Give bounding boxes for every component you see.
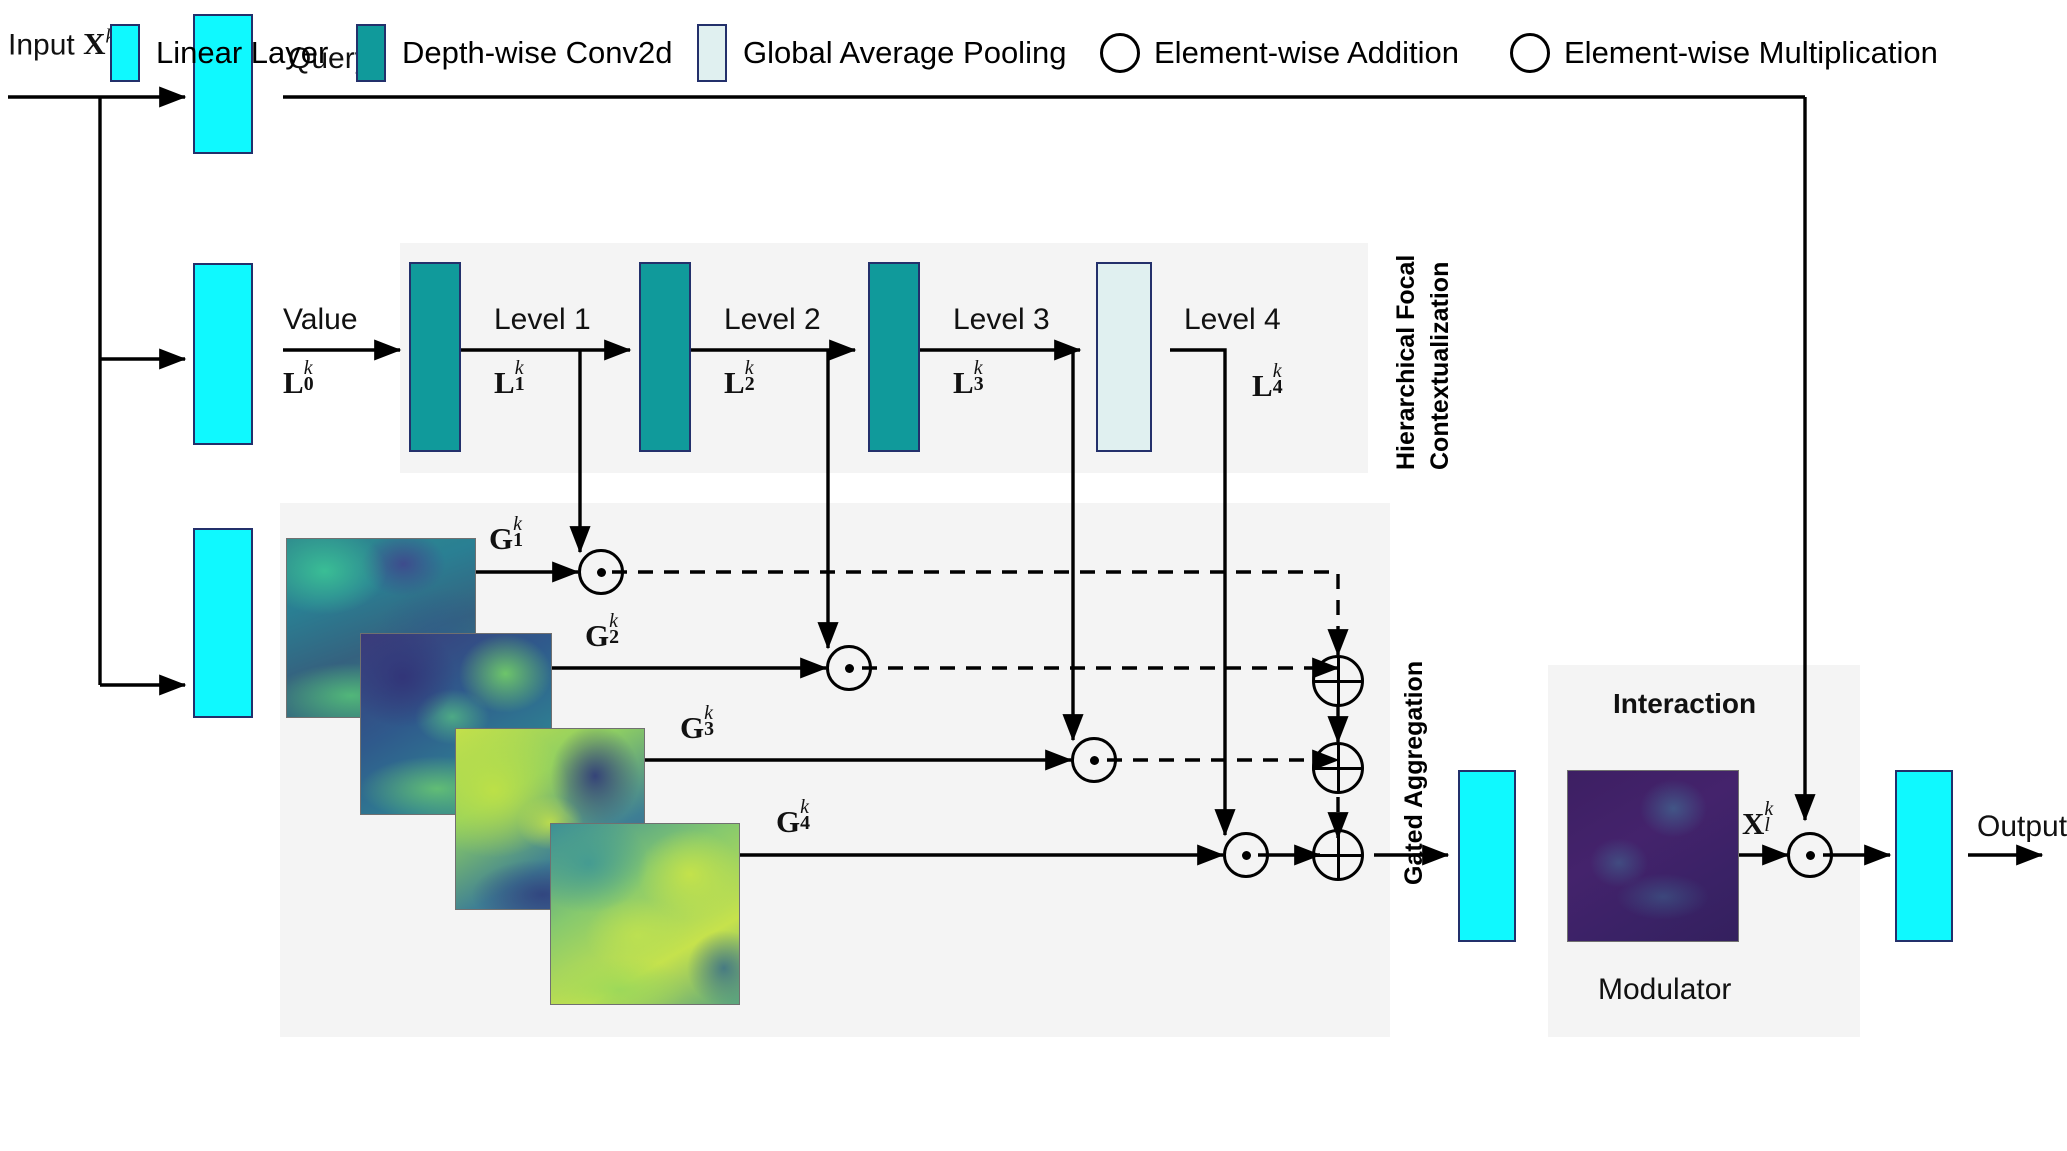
legend-label-element-wise-multiplication: Element-wise Multiplication [1564,35,1938,71]
figure-canvas: Input Xk Query Value Lk0 Level 1 Lk1 Lev… [0,0,2067,1151]
wire-L4-to-mul4 [1170,350,1225,835]
linear-layer-output [1895,770,1953,942]
modulated-tensor-label: Xkl [1742,808,1764,839]
level-4-label: Level 4 [1184,305,1281,335]
odot-icon-mul-level2 [826,645,872,691]
legend-item-linear-layer: Linear Layer [110,0,328,106]
legend-label-linear-layer: Linear Layer [156,35,328,71]
gated-aggregation-group-label: Gated Aggregation [1400,661,1429,885]
focal-level-4-feature-map [550,823,740,1005]
gate-1-label: Gk1 [489,523,513,554]
output-label: Output [1977,812,2067,842]
level-1-tensor-label: Lk1 [494,367,515,398]
global-average-pooling-level4 [1096,262,1152,452]
level-3-label: Level 3 [953,305,1050,335]
legend-item-depthwise-conv2d: Depth-wise Conv2d [356,0,673,106]
level-2-label: Level 2 [724,305,821,335]
level-1-label: Level 1 [494,305,591,335]
interaction-title: Interaction [1613,690,1756,718]
linear-layer-aggregation [1458,770,1516,942]
legend-item-global-average-pooling: Global Average Pooling [697,0,1066,106]
depthwise-conv2d-level3 [868,262,920,452]
gate-2-label: Gk2 [585,620,609,651]
linear-layer-gates [193,528,253,718]
depthwise-conv2d-level1 [409,262,461,452]
depthwise-conv2d-level2 [639,262,691,452]
wire-mul1-to-add1 [612,572,1338,655]
legend-item-element-wise-multiplication: Element-wise Multiplication [1510,0,1938,106]
oplus-icon-add1 [1312,655,1364,707]
odot-icon-interaction [1787,832,1833,878]
linear-layer-value [193,263,253,445]
legend-swatch-global-average-pooling [697,24,727,82]
oplus-icon-legend [1100,33,1140,73]
oplus-icon-add3 [1312,829,1364,881]
oplus-icon-add2 [1312,742,1364,794]
level-4-tensor-label: Lk4 [1252,370,1273,401]
hfc-group-label-line2: Contextualization [1426,262,1455,470]
value-label: Value [283,305,358,335]
modulator-label: Modulator [1598,975,1731,1005]
legend-item-element-wise-addition: Element-wise Addition [1100,0,1459,106]
legend-swatch-depthwise-conv2d [356,24,386,82]
gate-4-label: Gk4 [776,806,800,837]
odot-icon-mul-level4 [1223,832,1269,878]
modulator-feature-map [1567,770,1739,942]
value-tensor-label: Lk0 [283,367,304,398]
gate-3-label: Gk3 [680,712,704,743]
level-3-tensor-label: Lk3 [953,367,974,398]
odot-icon-mul-level3 [1071,737,1117,783]
legend-label-global-average-pooling: Global Average Pooling [743,35,1066,71]
odot-icon-mul-level1 [578,549,624,595]
hfc-group-label-line1: Hierarchical Focal [1392,255,1421,470]
legend-label-element-wise-addition: Element-wise Addition [1154,35,1459,71]
legend-swatch-linear-layer [110,24,140,82]
odot-icon-legend [1510,33,1550,73]
level-2-tensor-label: Lk2 [724,367,745,398]
legend-label-depthwise-conv2d: Depth-wise Conv2d [402,35,673,71]
legend: Linear Layer Depth-wise Conv2d Global Av… [0,0,2067,106]
